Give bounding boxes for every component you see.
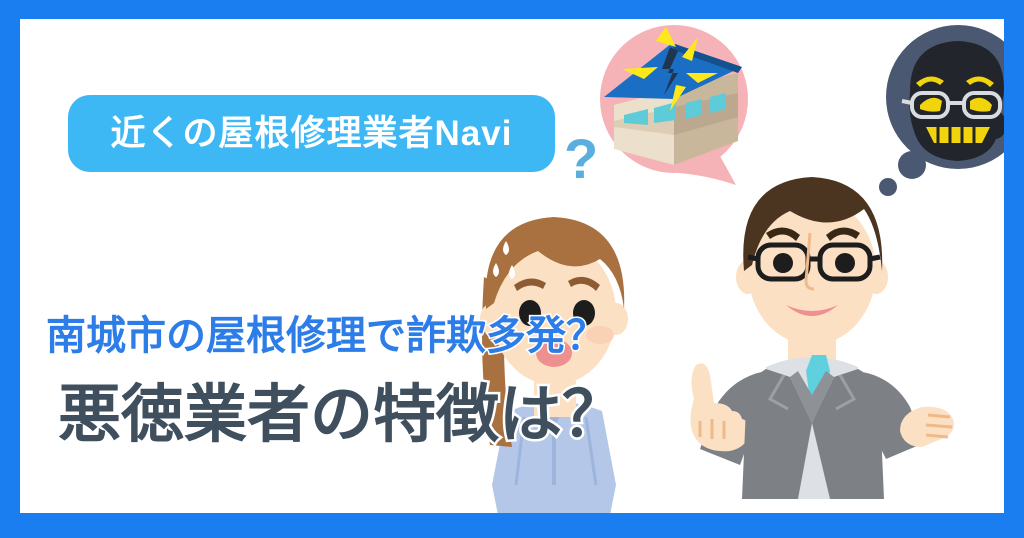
decorative-question-mark-icon: ? — [564, 131, 598, 187]
headline-title: 悪徳業者の特徴は？ — [58, 379, 625, 451]
advisor-man-icon — [670, 159, 960, 513]
site-name-badge[interactable]: 近くの屋根修理業者Navi — [68, 95, 555, 172]
advisor-man-illustration — [670, 159, 960, 513]
banner-canvas: 近くの屋根修理業者Navi ? 南城市の屋根修理で詐欺多発？ 悪徳業者の特徴は？ — [0, 0, 1024, 538]
headline-subtitle: 南城市の屋根修理で詐欺多発？ — [46, 313, 606, 359]
site-name-badge-label: 近くの屋根修理業者Navi — [111, 116, 513, 151]
banner-inner-area: 近くの屋根修理業者Navi ? 南城市の屋根修理で詐欺多発？ 悪徳業者の特徴は？ — [20, 19, 1004, 513]
